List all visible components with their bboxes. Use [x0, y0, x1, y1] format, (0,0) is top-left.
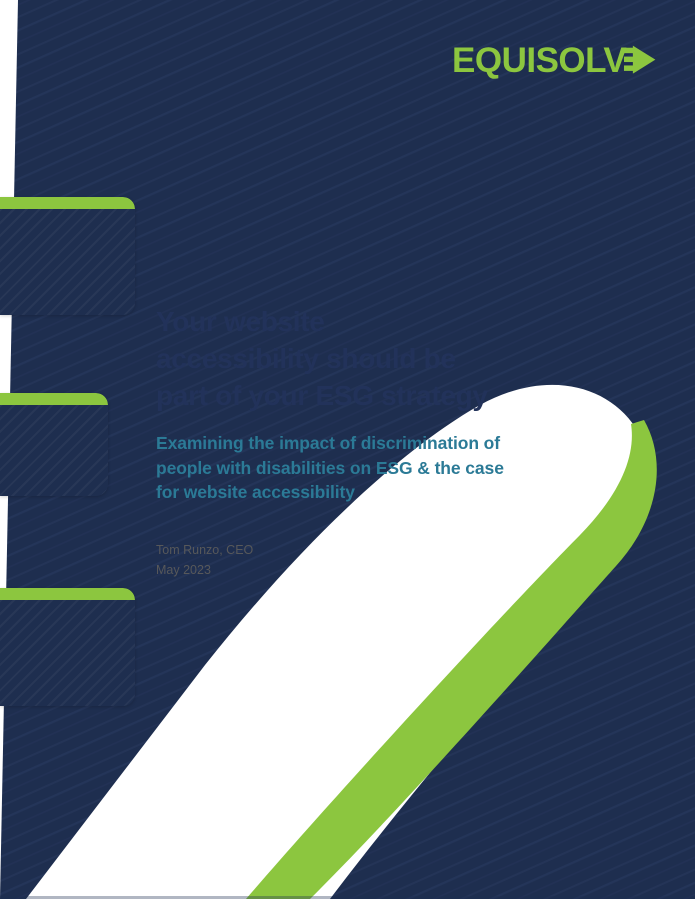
arrow-right-icon [624, 39, 657, 81]
decorative-box-2 [0, 393, 108, 496]
title-line-2: accessibility should be [156, 343, 456, 374]
title-line-3: part of your ESG strategy [156, 380, 488, 411]
cover-text-block: Your website accessibility should be par… [156, 303, 576, 580]
byline-date: May 2023 [156, 561, 576, 580]
decorative-box-1 [0, 197, 135, 315]
subtitle-line-2: people with disabilities on ESG & the ca… [156, 458, 504, 478]
decorative-box-green-cap [0, 393, 108, 405]
decorative-box-body [0, 405, 108, 496]
decorative-box-body [0, 600, 135, 706]
decorative-box-3 [0, 588, 135, 706]
title-line-1: Your website [156, 306, 325, 337]
subtitle-line-1: Examining the impact of discrimination o… [156, 433, 500, 453]
byline-author: Tom Runzo, CEO [156, 541, 576, 560]
decorative-box-green-cap [0, 197, 135, 209]
equisolve-logo: EQUISOLV [452, 36, 657, 84]
page-title: Your website accessibility should be par… [156, 303, 576, 415]
decorative-box-green-cap [0, 588, 135, 600]
decorative-box-body [0, 209, 135, 315]
document-cover-page: EQUISOLV Your website accessibility shou… [0, 0, 695, 899]
logo-wordmark: EQUISOLV [452, 43, 626, 78]
page-subtitle: Examining the impact of discrimination o… [156, 431, 576, 506]
subtitle-line-3: for website accessibility [156, 482, 355, 502]
byline: Tom Runzo, CEO May 2023 [156, 541, 576, 580]
